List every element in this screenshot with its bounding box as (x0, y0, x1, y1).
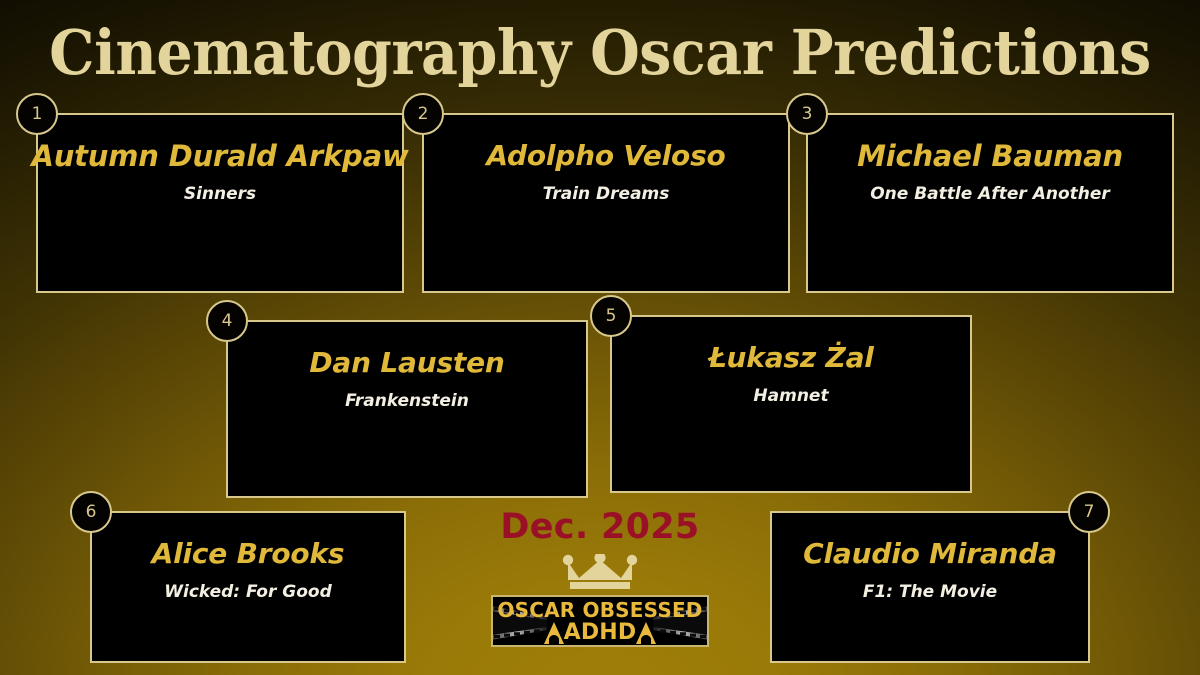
rank-badge-7: 7 (1068, 491, 1110, 533)
prediction-card-1[interactable]: 1 Autumn Durald Arkpaw Sinners (36, 113, 404, 293)
prediction-card-5[interactable]: 5 Łukasz Żal Hamnet (610, 315, 972, 493)
rank-badge-2: 2 (402, 93, 444, 135)
date-label: Dec. 2025 (500, 506, 699, 548)
rank-badge-4: 4 (206, 300, 248, 342)
film-title-1: Sinners (184, 183, 256, 205)
rank-badge-5: 5 (590, 295, 632, 337)
branding-block: Dec. 2025 (450, 506, 750, 647)
rank-badge-3: 3 (786, 93, 828, 135)
rank-badge-1: 1 (16, 93, 58, 135)
film-title-6: Wicked: For Good (164, 581, 332, 603)
prediction-card-6[interactable]: 6 Alice Brooks Wicked: For Good (90, 511, 406, 663)
rank-badge-6: 6 (70, 491, 112, 533)
channel-logo: OSCAR OBSESSED ADHD (491, 595, 709, 647)
prediction-card-4[interactable]: 4 Dan Lausten Frankenstein (226, 320, 588, 498)
prediction-card-2[interactable]: 2 Adolpho Veloso Train Dreams (422, 113, 790, 293)
cinematographer-name-4: Dan Lausten (309, 346, 504, 380)
spotlight-beam-left-icon (544, 622, 564, 644)
cinematographer-name-3: Michael Bauman (857, 139, 1123, 173)
logo-primary-text: OSCAR OBSESSED (497, 600, 702, 620)
prediction-card-3[interactable]: 3 Michael Bauman One Battle After Anothe… (806, 113, 1174, 293)
cinematographer-name-2: Adolpho Veloso (486, 139, 725, 173)
spotlight-beam-right-icon (636, 622, 656, 644)
film-title-2: Train Dreams (543, 183, 670, 205)
logo-adhd-text: ADHD (564, 622, 637, 644)
film-title-4: Frankenstein (345, 390, 469, 412)
cinematographer-name-1: Autumn Durald Arkpaw (31, 139, 408, 173)
slide-canvas: Cinematography Oscar Predictions 1 Autum… (0, 0, 1200, 675)
cinematographer-name-7: Claudio Miranda (803, 537, 1057, 571)
film-title-7: F1: The Movie (863, 581, 997, 603)
page-title: Cinematography Oscar Predictions (48, 14, 1152, 92)
cinematographer-name-5: Łukasz Żal (708, 341, 873, 375)
crown-icon (559, 554, 641, 590)
cinematographer-name-6: Alice Brooks (152, 537, 345, 571)
prediction-card-7[interactable]: 7 Claudio Miranda F1: The Movie (770, 511, 1090, 663)
film-title-3: One Battle After Another (870, 183, 1110, 205)
logo-secondary-text: ADHD (544, 622, 657, 644)
film-title-5: Hamnet (753, 385, 828, 407)
